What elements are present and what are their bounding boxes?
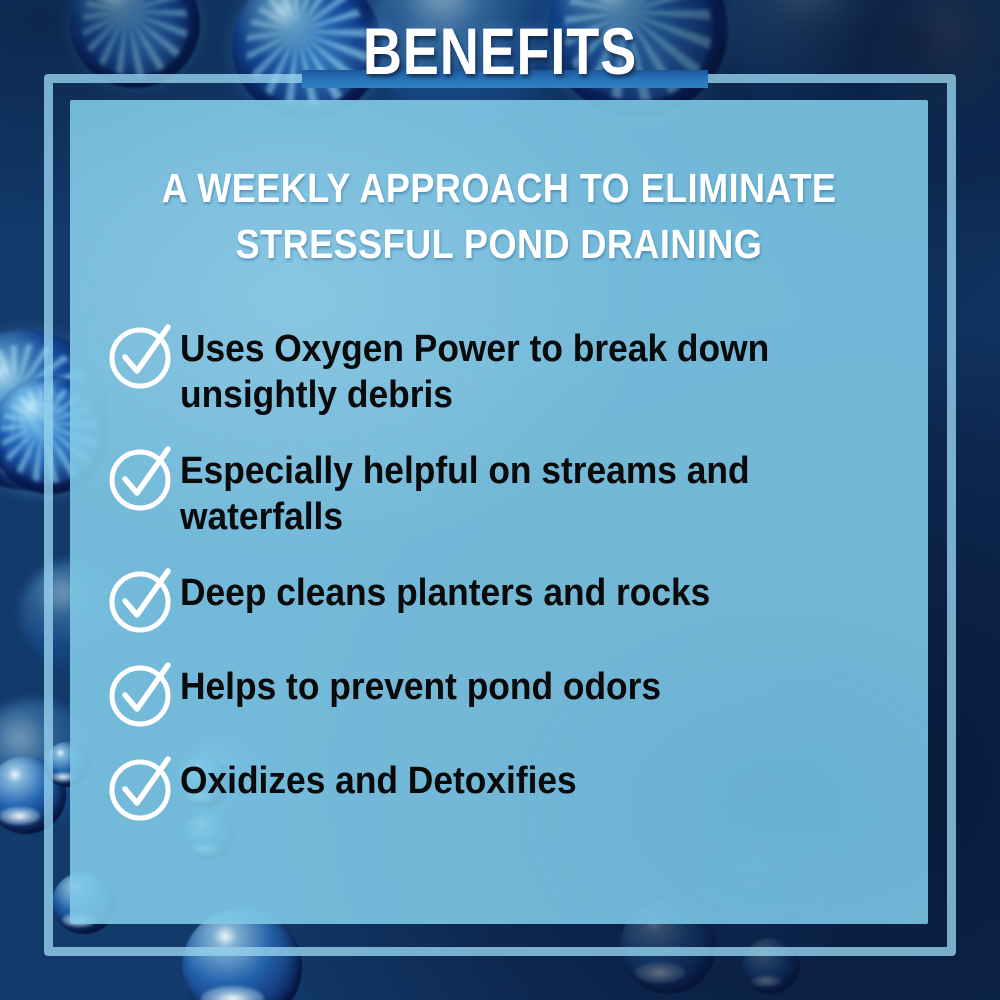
list-item-label: Especially helpful on streams and waterf…	[180, 444, 866, 540]
bottom-frame-gap	[618, 922, 704, 966]
check-circle-icon	[108, 568, 180, 634]
check-circle-icon	[108, 662, 180, 728]
list-item-label: Deep cleans planters and rocks	[180, 566, 866, 616]
page-title: BENEFITS	[90, 18, 910, 84]
check-circle-icon	[108, 756, 180, 822]
list-item: Helps to prevent pond odors	[108, 660, 918, 728]
check-circle-icon	[108, 446, 180, 512]
list-item-label: Helps to prevent pond odors	[180, 660, 866, 710]
benefits-list: Uses Oxygen Power to break down unsightl…	[108, 322, 918, 848]
list-item: Deep cleans planters and rocks	[108, 566, 918, 634]
headline-line-2: STRESSFUL POND DRAINING	[139, 216, 859, 272]
list-item: Especially helpful on streams and waterf…	[108, 444, 918, 540]
list-item-label: Uses Oxygen Power to break down unsightl…	[180, 322, 866, 418]
headline-line-1: A WEEKLY APPROACH TO ELIMINATE	[162, 165, 837, 211]
headline: A WEEKLY APPROACH TO ELIMINATE STRESSFUL…	[139, 160, 859, 272]
check-circle-icon	[108, 324, 180, 390]
list-item: Uses Oxygen Power to break down unsightl…	[108, 322, 918, 418]
benefits-infographic: BENEFITS A WEEKLY APPROACH TO ELIMINATE …	[0, 0, 1000, 1000]
list-item-label: Oxidizes and Detoxifies	[180, 754, 866, 804]
list-item: Oxidizes and Detoxifies	[108, 754, 918, 822]
